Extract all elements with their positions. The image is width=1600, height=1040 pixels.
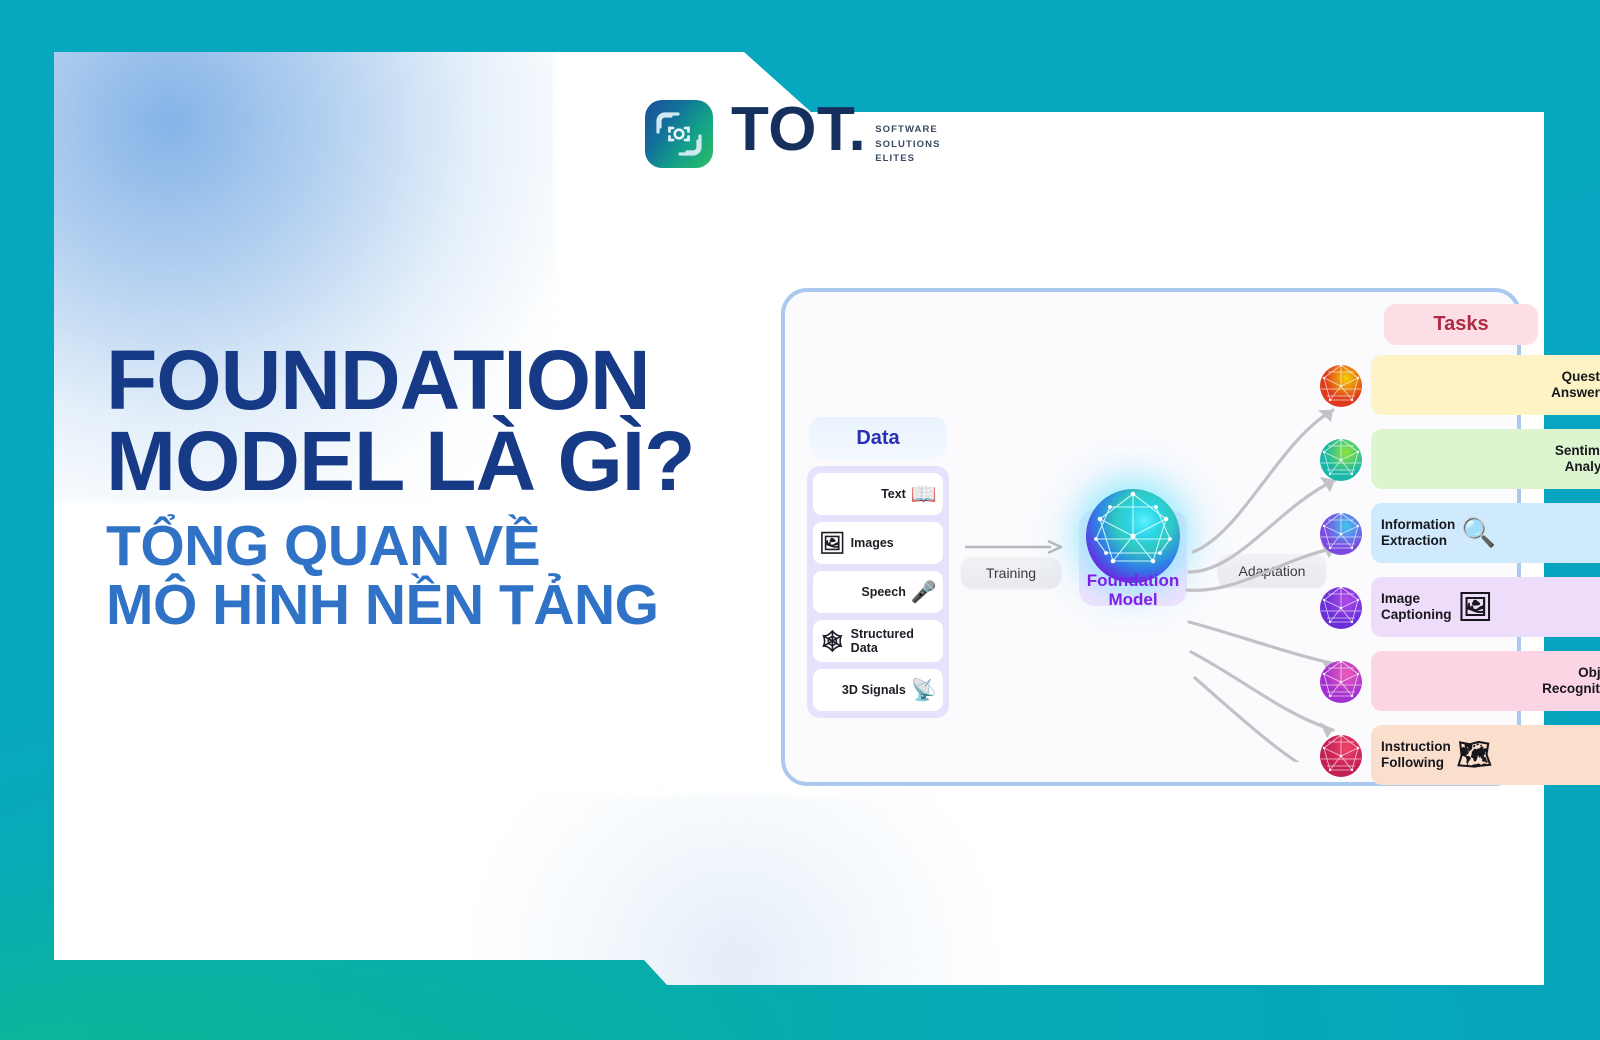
task-card-label: Question Answering [1551, 369, 1600, 400]
task-orb-icon [1319, 734, 1363, 778]
headline-subtitle: TỔNG QUAN VỀ MÔ HÌNH NỀN TẢNG [106, 517, 786, 634]
foundation-model-label: Foundation Model [1071, 572, 1195, 609]
data-item: Text📖 [813, 473, 943, 515]
task-card[interactable]: Question Answering💬 [1371, 355, 1600, 415]
tagline-line-2: SOLUTIONS [875, 138, 940, 152]
task-row: Image Captioning🖼 [1371, 573, 1600, 641]
data-item: Speech🎤 [813, 571, 943, 613]
data-item-label: 3D Signals [842, 683, 906, 697]
tasks-header: Tasks [1384, 304, 1538, 345]
task-row: Sentiment Analysis🙂 [1371, 425, 1600, 493]
task-row: Object Recognition🔷 [1371, 647, 1600, 715]
fm-label-line-1: Foundation [1087, 571, 1180, 590]
task-orb-icon [1319, 586, 1363, 630]
polyhedron-network-orb-icon [1086, 489, 1180, 583]
task-card[interactable]: Instruction Following🗺 [1371, 725, 1600, 785]
framed-picture-icon: 🖼 [1458, 593, 1494, 621]
task-orb-icon [1319, 438, 1363, 482]
task-orb-icon [1319, 660, 1363, 704]
task-card[interactable]: Object Recognition🔷 [1371, 651, 1600, 711]
data-modality-list: Text📖🖼ImagesSpeech🎤🕸Structured Data3D Si… [807, 466, 949, 718]
headline-line-2: MODEL LÀ GÌ? [106, 421, 786, 502]
headline-line-1: FOUNDATION [106, 333, 650, 427]
data-item-label: Structured Data [851, 627, 914, 655]
training-label: Training [961, 557, 1061, 588]
page-title: FOUNDATION MODEL LÀ GÌ? TỔNG QUAN VỀ MÔ … [106, 340, 786, 635]
brand-tagline: SOFTWARE SOLUTIONS ELITES [875, 123, 940, 166]
data-item-label: Text [881, 487, 906, 501]
task-orb-icon [1319, 364, 1363, 408]
data-item-label: Images [851, 536, 894, 550]
scan-frame-icon [645, 100, 713, 168]
lidar-sensor-icon: 📡 [911, 680, 937, 701]
task-card[interactable]: Sentiment Analysis🙂 [1371, 429, 1600, 489]
tagline-line-3: ELITES [875, 152, 940, 166]
subtitle-line-1: TỔNG QUAN VỀ [106, 514, 540, 578]
data-item: 3D Signals📡 [813, 669, 943, 711]
task-row: Instruction Following🗺 [1371, 721, 1600, 789]
data-item: 🕸Structured Data [813, 620, 943, 662]
headline-main: FOUNDATION MODEL LÀ GÌ? [106, 340, 786, 501]
task-card[interactable]: Information Extraction🔍 [1371, 503, 1600, 563]
data-item: 🖼Images [813, 522, 943, 564]
tagline-line-1: SOFTWARE [875, 123, 940, 137]
node-graph-icon: 🕸 [819, 631, 846, 652]
tasks-column: Tasks Question Answering💬 Sentiment Anal… [1371, 304, 1600, 789]
tasks-list: Question Answering💬 Sentiment Analysis🙂 … [1371, 351, 1600, 789]
training-arrow-icon [965, 540, 1063, 554]
magnifying-glass-icon: 🔍 [1461, 519, 1496, 547]
brand-dot: . [848, 95, 866, 164]
task-card-label: Sentiment Analysis [1555, 443, 1600, 474]
task-row: Question Answering💬 [1371, 351, 1600, 419]
task-card-label: Image Captioning [1381, 591, 1452, 622]
brand-logo[interactable]: TOT. SOFTWARE SOLUTIONS ELITES [645, 100, 941, 168]
task-card-label: Instruction Following [1381, 739, 1451, 770]
decorative-blue-blob-secondary [474, 795, 994, 985]
task-card-label: Object Recognition [1542, 665, 1600, 696]
open-book-icon: 📖 [911, 484, 937, 505]
poster-canvas: TOT. SOFTWARE SOLUTIONS ELITES FOUNDATIO… [0, 0, 1600, 1040]
task-orb-icon [1319, 512, 1363, 556]
treasure-map-icon: 🗺 [1457, 741, 1493, 769]
task-card[interactable]: Image Captioning🖼 [1371, 577, 1600, 637]
foundation-model-diagram: Data Text📖🖼ImagesSpeech🎤🕸Structured Data… [781, 288, 1521, 786]
fm-label-line-2: Model [1108, 590, 1157, 609]
task-card-label: Information Extraction [1381, 517, 1455, 548]
microphone-waveform-icon: 🎤 [911, 582, 937, 603]
subtitle-line-2: MÔ HÌNH NỀN TẢNG [106, 576, 786, 635]
brand-name: TOT. [731, 101, 866, 158]
task-row: Information Extraction🔍 [1371, 499, 1600, 567]
data-label: Data [809, 417, 947, 459]
data-item-label: Speech [861, 585, 905, 599]
photos-icon: 🖼 [819, 533, 846, 554]
